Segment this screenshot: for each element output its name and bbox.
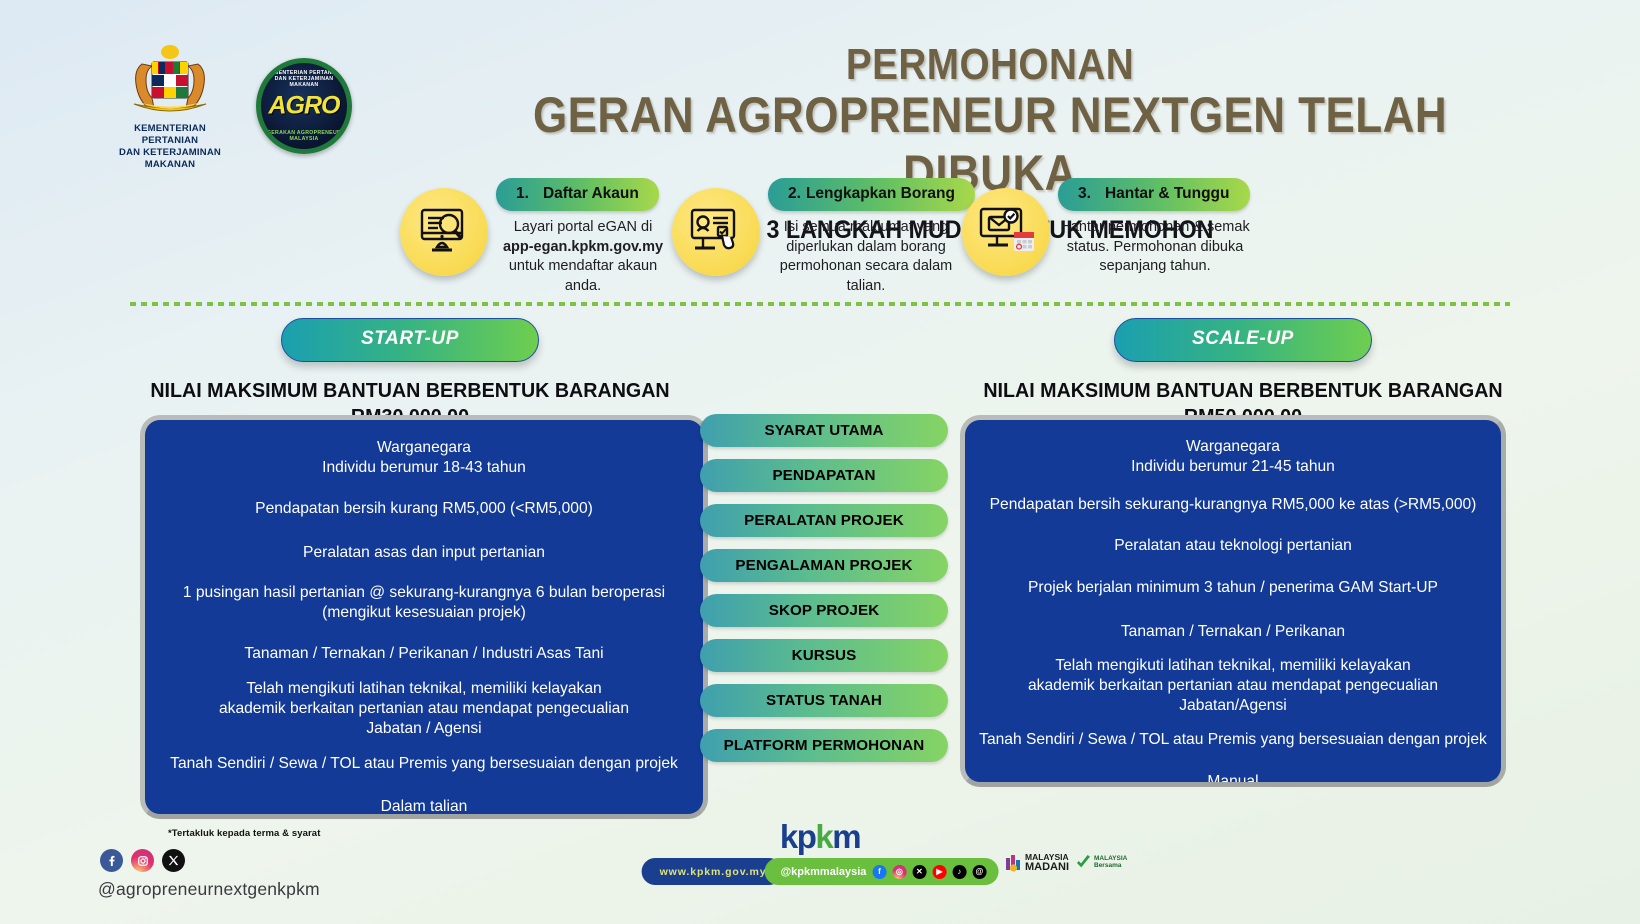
- steps-section: 1.Daftar Akaun Layari portal eGAN di app…: [400, 178, 1300, 288]
- website-url[interactable]: www.kpkm.gov.my: [642, 858, 783, 885]
- step-1-desc-bold: app-egan.kpkm.gov.my: [503, 239, 663, 255]
- scaleup-row-platform: Manual: [971, 762, 1495, 787]
- monitor-mail-calendar-icon: [978, 206, 1034, 259]
- bersama-text: MALAYSIA Bersama: [1094, 856, 1127, 870]
- step-1-description: Layari portal eGAN di app-egan.kpkm.gov.…: [496, 218, 670, 296]
- startup-row-platform: Dalam talian: [151, 786, 697, 819]
- scaleup-row-skop: Tanaman / Ternakan / Perikanan: [971, 610, 1495, 654]
- madani-text: MALAYSIA MADANI: [1025, 853, 1069, 873]
- footer-badges: MALAYSIA MADANI MALAYSIA Bersama: [1005, 853, 1127, 873]
- terms-note: *Tertakluk kepada terma & syarat: [168, 828, 320, 839]
- category-platform-permohonan[interactable]: PLATFORM PERMOHONAN: [700, 729, 948, 762]
- malaysia-bersama-badge: MALAYSIA Bersama: [1075, 854, 1127, 871]
- startup-row-syarat-utama: Warganegara Individu berumur 18-43 tahun: [151, 430, 697, 486]
- malaysia-coat-of-arms-logo: KEMENTERIAN PERTANIAN DAN KETERJAMINAN M…: [110, 42, 230, 171]
- x-twitter-icon[interactable]: [162, 849, 185, 872]
- step-2-icon-circle: [672, 188, 760, 276]
- step-2-label: Lengkapkan Borang: [806, 185, 955, 202]
- kpkm-social-handle: @kpkmmalaysia: [780, 866, 866, 878]
- agro-logo: KEMENTERIAN PERTANIAN DAN KETERJAMINAN M…: [256, 58, 352, 154]
- category-syarat-utama[interactable]: SYARAT UTAMA: [700, 414, 948, 447]
- scaleup-panel: Warganegara Individu berumur 21-45 tahun…: [960, 415, 1506, 787]
- facebook-mini-icon[interactable]: f: [872, 865, 886, 879]
- step-1-desc-after: untuk mendaftar akaun anda.: [509, 258, 657, 294]
- startup-row-pengalaman: 1 pusingan hasil pertanian @ sekurang-ku…: [151, 574, 697, 632]
- madani-emblem-icon: [1005, 853, 1022, 872]
- startup-row-status-tanah: Tanah Sendiri / Sewa / TOL atau Premis y…: [151, 742, 697, 786]
- step-2-number: 2.: [788, 185, 801, 202]
- startup-max-title: NILAI MAKSIMUM BANTUAN BERBENTUK BARANGA…: [141, 378, 679, 404]
- step-2-badge[interactable]: 2.Lengkapkan Borang: [768, 178, 975, 211]
- bersama-line-2: Bersama: [1094, 863, 1127, 870]
- category-pendapatan[interactable]: PENDAPATAN: [700, 459, 948, 492]
- agro-arc-bottom-text: GERAKAN AGROPRENEUR MALAYSIA: [261, 130, 347, 142]
- youtube-mini-icon[interactable]: ▶: [932, 865, 946, 879]
- step-3-icon-circle: [962, 188, 1050, 276]
- title-line-1: PERMOHONAN: [471, 40, 1509, 90]
- step-1-badge[interactable]: 1.Daftar Akaun: [496, 178, 659, 211]
- footer-bar: www.kpkm.gov.my @kpkmmalaysia f ◎ ✕ ▶ ♪ …: [642, 858, 999, 885]
- step-1-desc-before: Layari portal eGAN di: [514, 219, 653, 235]
- step-1-body: 1.Daftar Akaun Layari portal eGAN di app…: [496, 178, 670, 296]
- startup-row-skop: Tanaman / Ternakan / Perikanan / Industr…: [151, 632, 697, 676]
- scaleup-badge[interactable]: SCALE-UP: [1114, 318, 1372, 362]
- step-3-body: 3.Hantar & Tunggu Hantar permohonan & se…: [1058, 178, 1252, 277]
- ministry-line-2: DAN KETERJAMINAN MAKANAN: [110, 147, 230, 171]
- scaleup-row-peralatan: Peralatan atau teknologi pertanian: [971, 526, 1495, 566]
- social-icon-group: [100, 849, 185, 872]
- malaysia-madani-badge: MALAYSIA MADANI: [1005, 853, 1069, 873]
- coat-of-arms-icon: [110, 42, 230, 120]
- madani-line-2: MADANI: [1025, 862, 1069, 873]
- agro-arc-top-text: KEMENTERIAN PERTANIAN DAN KETERJAMINAN M…: [261, 70, 347, 88]
- monitor-search-icon: [418, 207, 470, 258]
- instagram-mini-icon[interactable]: ◎: [892, 865, 906, 879]
- startup-row-peralatan: Peralatan asas dan input pertanian: [151, 532, 697, 574]
- step-3-description: Hantar permohonan & semak status. Permoh…: [1058, 218, 1252, 277]
- step-2-body: 2.Lengkapkan Borang Isi semua maklumat y…: [768, 178, 975, 296]
- category-column: SYARAT UTAMA PENDAPATAN PERALATAN PROJEK…: [700, 414, 948, 774]
- logo-group: KEMENTERIAN PERTANIAN DAN KETERJAMINAN M…: [110, 42, 352, 171]
- kpkm-logo: kpkm: [780, 818, 860, 856]
- tiktok-mini-icon[interactable]: ♪: [952, 865, 966, 879]
- category-pengalaman-projek[interactable]: PENGALAMAN PROJEK: [700, 549, 948, 582]
- kpkm-logo-m: m: [832, 818, 860, 855]
- kpkm-logo-k: k: [815, 818, 832, 855]
- step-2-description: Isi semua maklumat yang diperlukan dalam…: [768, 218, 964, 296]
- agro-logo-word: AGRO: [269, 92, 340, 121]
- ministry-name: KEMENTERIAN PERTANIAN DAN KETERJAMINAN M…: [110, 123, 230, 171]
- ministry-line-1: KEMENTERIAN PERTANIAN: [110, 123, 230, 147]
- step-1-number: 1.: [516, 185, 529, 202]
- step-3-number: 3.: [1078, 185, 1091, 202]
- step-1-icon-circle: [400, 188, 488, 276]
- startup-row-pendapatan: Pendapatan bersih kurang RM5,000 (<RM5,0…: [151, 486, 697, 532]
- scaleup-row-pengalaman: Projek berjalan minimum 3 tahun / peneri…: [971, 566, 1495, 610]
- startup-rows: Warganegara Individu berumur 18-43 tahun…: [145, 420, 703, 819]
- startup-row-kursus: Telah mengikuti latihan teknikal, memili…: [151, 676, 697, 742]
- monitor-form-click-icon: [689, 207, 743, 258]
- instagram-icon[interactable]: [131, 849, 154, 872]
- step-3-badge[interactable]: 3.Hantar & Tunggu: [1058, 178, 1250, 211]
- scaleup-max-title: NILAI MAKSIMUM BANTUAN BERBENTUK BARANGA…: [967, 378, 1520, 404]
- social-handle-bar: @kpkmmalaysia f ◎ ✕ ▶ ♪ @: [764, 858, 998, 885]
- scaleup-row-pendapatan: Pendapatan bersih sekurang-kurangnya RM5…: [971, 484, 1495, 526]
- threads-mini-icon[interactable]: @: [972, 865, 986, 879]
- startup-panel: Warganegara Individu berumur 18-43 tahun…: [140, 415, 708, 819]
- kpkm-logo-kp: kp: [780, 818, 816, 855]
- dotted-divider: [130, 302, 1510, 306]
- step-1-label: Daftar Akaun: [543, 185, 639, 202]
- x-mini-icon[interactable]: ✕: [912, 865, 926, 879]
- category-kursus[interactable]: KURSUS: [700, 639, 948, 672]
- scaleup-row-status-tanah: Tanah Sendiri / Sewa / TOL atau Premis y…: [971, 718, 1495, 762]
- scaleup-row-kursus: Telah mengikuti latihan teknikal, memili…: [971, 654, 1495, 718]
- startup-header: START-UP NILAI MAKSIMUM BANTUAN BERBENTU…: [130, 318, 690, 430]
- scaleup-header: SCALE-UP NILAI MAKSIMUM BANTUAN BERBENTU…: [955, 318, 1531, 430]
- scaleup-rows: Warganegara Individu berumur 21-45 tahun…: [965, 420, 1501, 787]
- category-skop-projek[interactable]: SKOP PROJEK: [700, 594, 948, 627]
- category-status-tanah[interactable]: STATUS TANAH: [700, 684, 948, 717]
- social-handle: @agropreneurnextgenkpkm: [98, 879, 320, 900]
- infographic-root: KEMENTERIAN PERTANIAN DAN KETERJAMINAN M…: [0, 0, 1640, 924]
- green-check-icon: [1075, 854, 1092, 871]
- facebook-icon[interactable]: [100, 849, 123, 872]
- category-peralatan-projek[interactable]: PERALATAN PROJEK: [700, 504, 948, 537]
- scaleup-row-syarat-utama: Warganegara Individu berumur 21-45 tahun: [971, 430, 1495, 484]
- step-3-label: Hantar & Tunggu: [1105, 185, 1230, 202]
- startup-badge[interactable]: START-UP: [281, 318, 539, 362]
